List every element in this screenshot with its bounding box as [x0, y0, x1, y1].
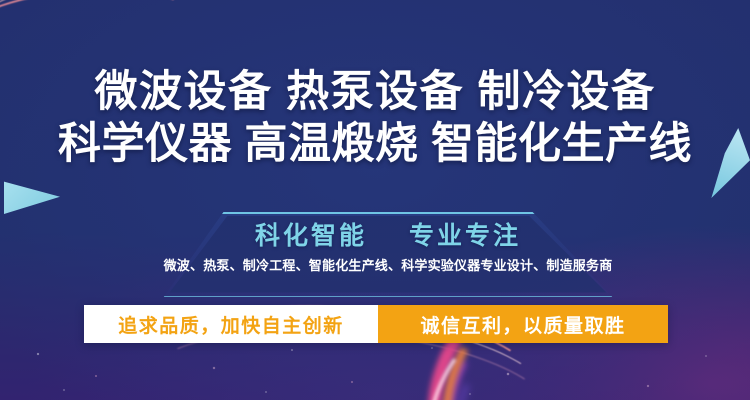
headline: 微波设备 热泵设备 制冷设备 科学仪器 高温煅烧 智能化生产线	[0, 66, 750, 170]
bottom-bar-right: 诚信互利，以质量取胜	[378, 305, 668, 343]
streak-segment	[0, 0, 197, 74]
slogan-right: 专业专注	[409, 222, 521, 250]
bottom-bar-left: 追求品质，加快自主创新	[84, 305, 378, 343]
bottom-slogan-bar: 追求品质，加快自主创新 诚信互利，以质量取胜	[84, 305, 668, 343]
headline-line-2: 科学仪器 高温煅烧 智能化生产线	[0, 118, 750, 170]
promo-banner: 微波设备 热泵设备 制冷设备 科学仪器 高温煅烧 智能化生产线 科化智能 专业专…	[0, 0, 750, 400]
slogan-left: 科化智能	[255, 222, 367, 250]
panel-description: 微波、热泵、制冷工程、智能化生产线、科学实验仪器专业设计、制造服务商	[164, 258, 613, 274]
streak-segment	[0, 0, 186, 66]
streak-segment	[0, 0, 187, 62]
headline-line-1: 微波设备 热泵设备 制冷设备	[0, 66, 750, 118]
slogan-row: 科化智能 专业专注	[255, 221, 521, 251]
streak-segment	[0, 0, 192, 71]
slogan-panel: 科化智能 专业专注 微波、热泵、制冷工程、智能化生产线、科学实验仪器专业设计、制…	[162, 212, 614, 298]
